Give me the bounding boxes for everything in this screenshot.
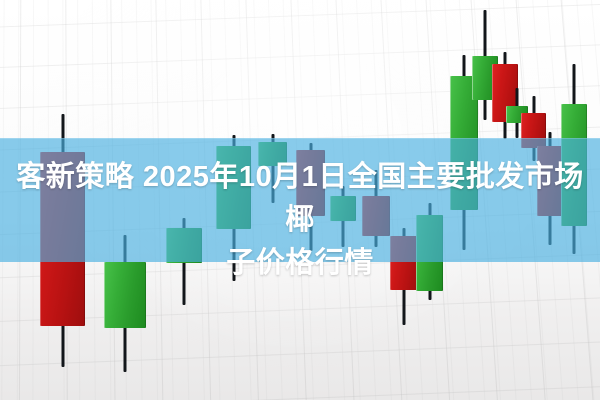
banner-image: 客新策略 2025年10月1日全国主要批发市场椰 子价格行情 <box>0 0 600 400</box>
page-title: 客新策略 2025年10月1日全国主要批发市场椰 子价格行情 <box>0 156 600 285</box>
band-top-edge <box>0 138 600 139</box>
